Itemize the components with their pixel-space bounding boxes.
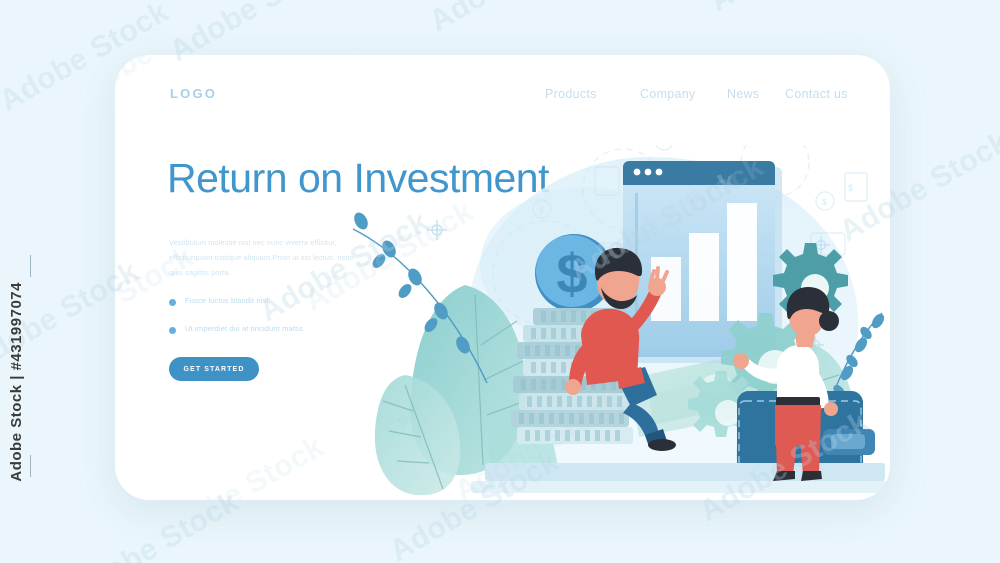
list-item: Ut imperdiet dui at tincidunt mattis. (169, 323, 369, 351)
tick-bottom (30, 455, 31, 477)
return-on-investment-illustration: $ $ $ $ (345, 145, 890, 500)
feature-bullet-list: Fusce luctus blandit nisl. Ut imperdiet … (169, 295, 369, 351)
svg-text:$: $ (556, 242, 587, 305)
stock-id-label: Adobe Stock | #431997074 (8, 282, 25, 482)
nav-item-contact-us[interactable]: Contact us (785, 87, 848, 101)
bullet-label: Fusce luctus blandit nisl. (185, 296, 270, 305)
window-dot-1 (634, 169, 641, 176)
svg-text:$: $ (822, 197, 827, 207)
list-item: Fusce luctus blandit nisl. (169, 295, 369, 323)
window-dot-3 (656, 169, 663, 176)
hero-paragraph: Vestibulum molestie nisl nec nunc viverr… (169, 235, 359, 281)
window-dot-2 (645, 169, 652, 176)
chart-bar-3 (727, 203, 757, 321)
bullet-label: Ut imperdiet dui at tincidunt mattis. (185, 324, 305, 333)
main-nav: Products Company News Contact us (545, 87, 875, 105)
base-platform (471, 463, 890, 493)
get-started-button[interactable]: GET STARTED (169, 357, 259, 381)
bullet-dot-icon (169, 299, 176, 306)
nav-item-news[interactable]: News (727, 87, 759, 101)
svg-text:$: $ (848, 183, 853, 193)
bullet-dot-icon (169, 327, 176, 334)
logo[interactable]: LOGO (170, 86, 217, 101)
nav-item-company[interactable]: Company (640, 87, 696, 101)
svg-text:$: $ (661, 145, 666, 147)
landing-page-card: Adobe Stock Adobe Stock Adobe Stock Adob… (115, 55, 890, 500)
tick-top (30, 255, 31, 277)
screenshot-root: Adobe Stock Adobe Stock Adobe Stock Adob… (0, 0, 1000, 563)
nav-item-products[interactable]: Products (545, 87, 597, 101)
svg-text:$: $ (539, 205, 544, 215)
chart-bar-2 (689, 233, 719, 321)
